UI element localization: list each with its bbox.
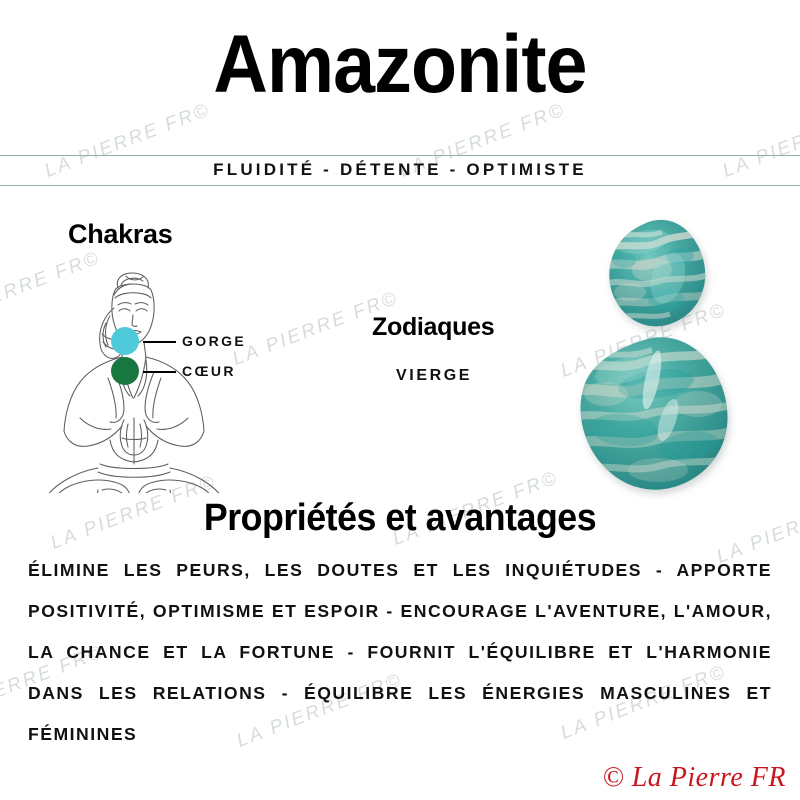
chakras-heading: Chakras [68,219,172,250]
stone-bottom [566,337,740,489]
leader-line-coeur [143,371,176,373]
divider-bottom [0,185,800,186]
divider-top [0,155,800,156]
page-title: Amazonite [32,24,768,106]
page-subtitle: FLUIDITÉ - DÉTENTE - OPTIMISTE [0,160,800,180]
amazonite-stones-image [548,208,800,500]
product-info-card: LA PIERRE FR© LA PIERRE FR© LA PIERRE FR… [0,0,800,800]
properties-body: ÉLIMINE LES PEURS, LES DOUTES ET LES INQ… [28,550,772,755]
brand-signature: © La Pierre FR [602,762,786,794]
chakra-label-coeur: CŒUR [182,363,236,379]
leader-line-gorge [143,341,176,343]
chakra-label-gorge: GORGE [182,333,246,349]
meditation-figure-icon [18,268,248,493]
properties-heading: Propriétés et avantages [24,497,776,540]
zodiac-heading: Zodiaques [372,313,494,342]
stone-top [600,220,714,326]
zodiac-sign-vierge: VIERGE [396,367,472,385]
